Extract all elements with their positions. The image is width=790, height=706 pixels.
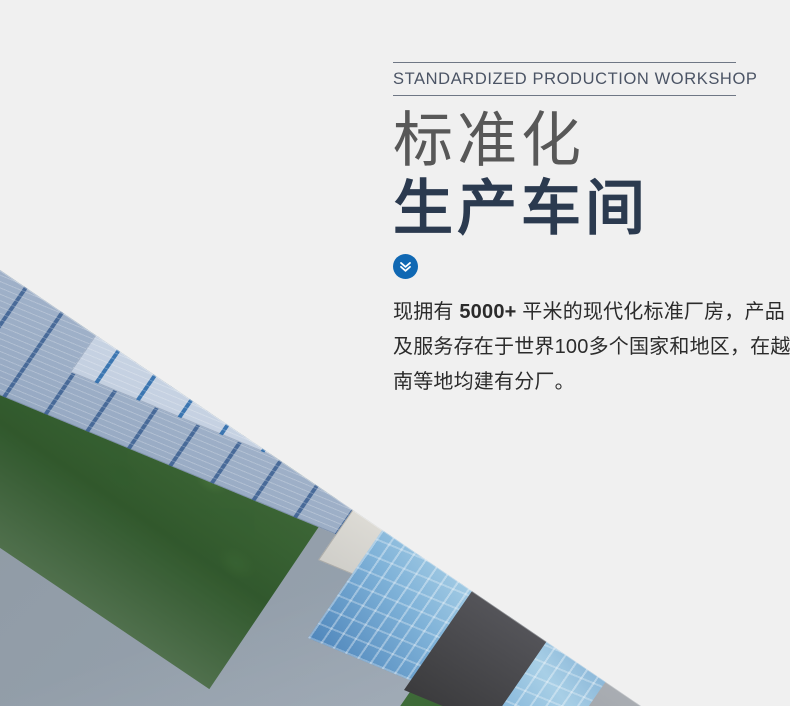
- description-part-1: 现拥有: [393, 301, 459, 323]
- chevron-double-down-icon: [398, 259, 413, 274]
- text-column: STANDARDIZED PRODUCTION WORKSHOP 标准化 生产车…: [393, 62, 790, 400]
- headline-line-1: 标准化: [393, 109, 790, 173]
- scroll-down-button[interactable]: [393, 254, 418, 279]
- headline-line-2: 生产车间: [393, 177, 790, 241]
- promo-banner: STANDARDIZED PRODUCTION WORKSHOP 标准化 生产车…: [0, 0, 790, 706]
- description-highlight: 5000+: [459, 301, 516, 323]
- eyebrow-title: STANDARDIZED PRODUCTION WORKSHOP: [393, 62, 736, 96]
- description-paragraph: 现拥有 5000+ 平米的现代化标准厂房，产品及服务存在于世界100多个国家和地…: [393, 295, 790, 400]
